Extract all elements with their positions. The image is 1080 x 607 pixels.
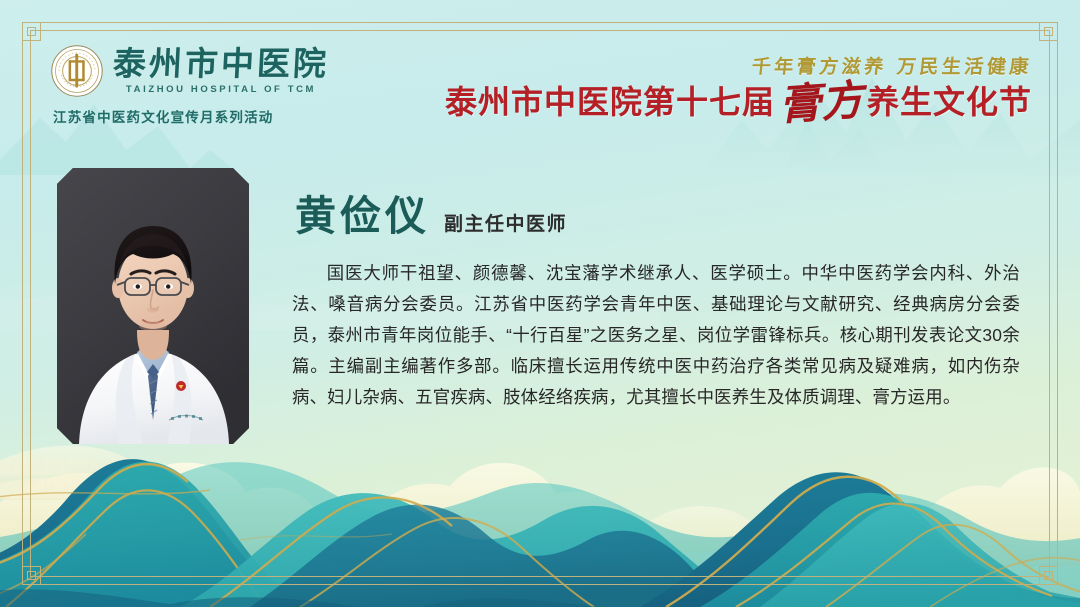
corner-motif-top-right-icon — [1039, 22, 1058, 41]
mountains-foreground — [0, 589, 600, 607]
festival-title-part2: 养生文化节 — [867, 86, 1032, 118]
hospital-name-cn: 泰州市中医院 — [112, 47, 330, 80]
doctor-title: 副主任中医师 — [444, 215, 567, 237]
doctor-photo — [57, 168, 249, 444]
festival-title-script: 膏方 — [774, 82, 868, 124]
mountains-center — [180, 493, 744, 607]
corner-motif-top-left-icon — [22, 22, 41, 41]
mountains-right — [640, 472, 1080, 607]
campaign-subtitle: 江苏省中医药文化宣传月系列活动 — [53, 106, 274, 126]
mountains-back — [0, 462, 1080, 607]
doctor-name: 黄俭仪 — [295, 196, 430, 237]
poster-canvas: 泰州市中医院 TAIZHOU HOSPITAL OF TCM 江苏省中医药文化宣… — [0, 0, 1080, 607]
festival-main-title: 泰州市中医院第十七届 膏方 养生文化节 — [445, 82, 1032, 118]
mountains-left — [0, 459, 312, 607]
cream-clouds — [0, 446, 1080, 567]
doctor-header: 黄俭仪 副主任中医师 — [295, 196, 567, 237]
gold-water-lines — [0, 490, 392, 540]
logo-text-column: 泰州市中医院 TAIZHOU HOSPITAL OF TCM — [113, 47, 329, 95]
festival-title-part1: 泰州市中医院第十七届 — [445, 86, 775, 118]
logo-row: 泰州市中医院 TAIZHOU HOSPITAL OF TCM — [50, 44, 329, 98]
corner-motif-bottom-left-icon — [22, 566, 41, 585]
doctor-biography: 国医大师干祖望、颜德馨、沈宝藩学术继承人、医学硕士。中华中医药学会内科、外治法、… — [292, 258, 1020, 413]
festival-title-block: 千年膏方滋养 万民生活健康 泰州市中医院第十七届 膏方 养生文化节 — [445, 52, 1032, 118]
festival-tagline: 千年膏方滋养 万民生活健康 — [444, 52, 1034, 79]
hospital-name-en: TAIZHOU HOSPITAL OF TCM — [113, 84, 329, 95]
tcm-circular-seal-logo-icon — [50, 44, 104, 98]
hospital-logo-block: 泰州市中医院 TAIZHOU HOSPITAL OF TCM 江苏省中医药文化宣… — [50, 44, 329, 126]
corner-motif-bottom-right-icon — [1039, 566, 1058, 585]
mist-streaks — [0, 456, 200, 499]
